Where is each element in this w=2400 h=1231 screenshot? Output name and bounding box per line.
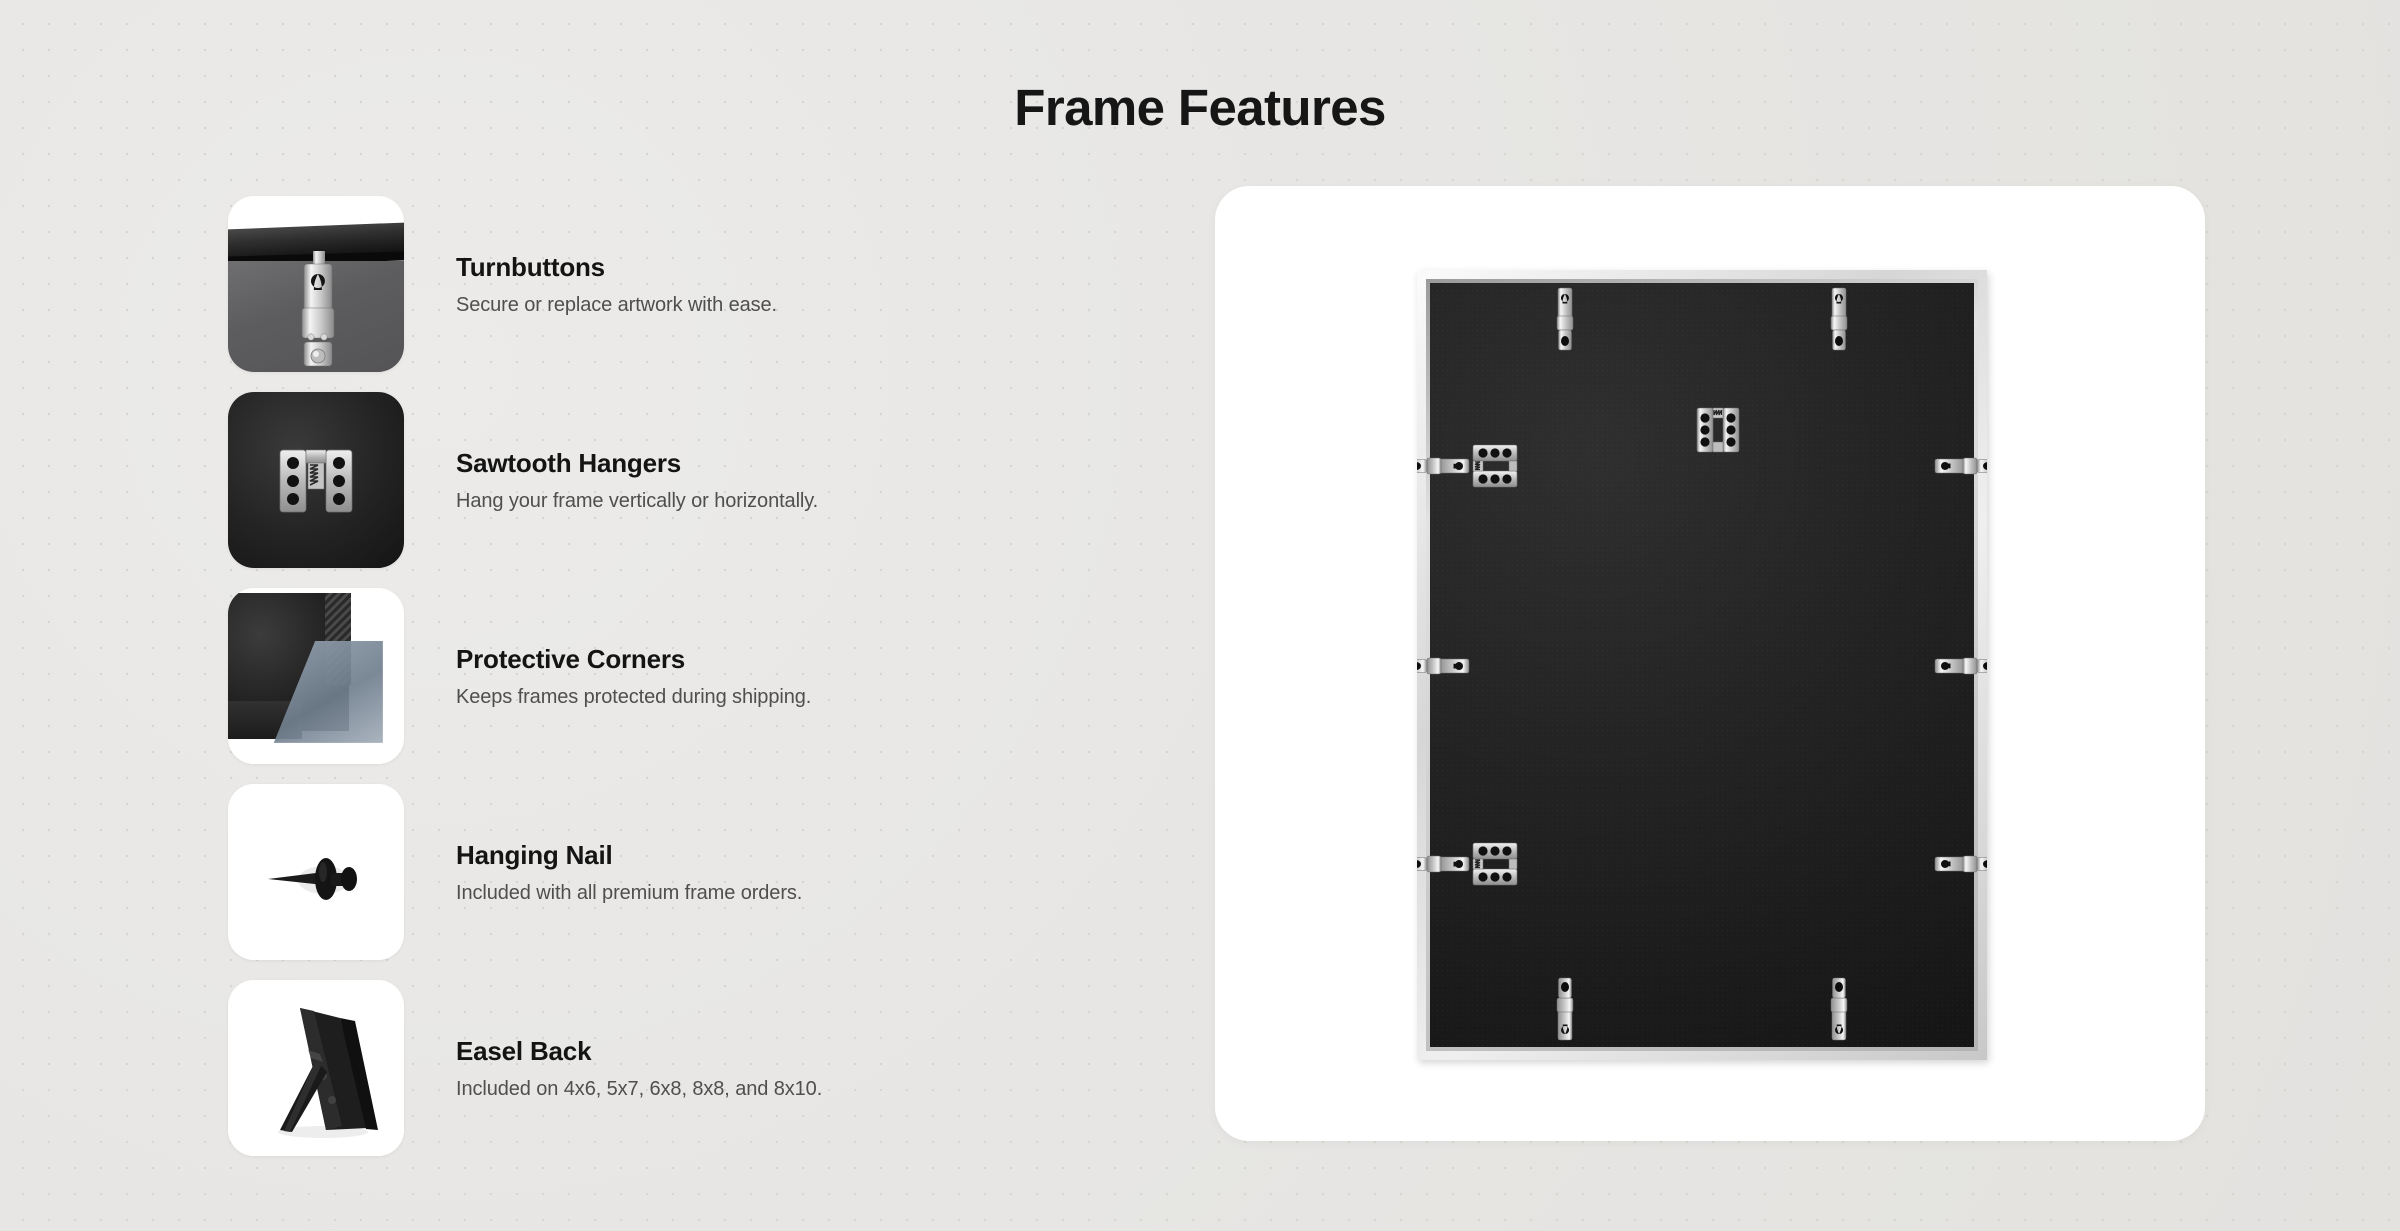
product-image-card [1215, 186, 2205, 1141]
feature-item-hanging-nail[interactable]: Hanging Nail Included with all premium f… [228, 774, 1128, 970]
feature-title: Easel Back [456, 1036, 822, 1067]
turnbutton-thumbnail [228, 196, 404, 372]
sawtooth-hanger-thumbnail [228, 392, 404, 568]
feature-description: Included on 4x6, 5x7, 6x8, 8x8, and 8x10… [456, 1078, 822, 1101]
feature-list: Turnbuttons Secure or replace artwork wi… [228, 186, 1128, 1166]
feature-title: Hanging Nail [456, 840, 802, 871]
feature-item-sawtooth-hangers[interactable]: Sawtooth Hangers Hang your frame vertica… [228, 382, 1128, 578]
feature-text-block: Easel Back Included on 4x6, 5x7, 6x8, 8x… [456, 1036, 822, 1101]
easel-back-thumbnail [228, 980, 404, 1156]
feature-text-block: Hanging Nail Included with all premium f… [456, 840, 802, 905]
feature-item-protective-corners[interactable]: Protective Corners Keeps frames protecte… [228, 578, 1128, 774]
feature-description: Hang your frame vertically or horizontal… [456, 490, 818, 513]
feature-text-block: Protective Corners Keeps frames protecte… [456, 644, 811, 709]
page-title: Frame Features [0, 78, 2400, 137]
feature-title: Protective Corners [456, 644, 811, 675]
frame-back-photo [1417, 270, 1987, 1060]
feature-description: Keeps frames protected during shipping. [456, 686, 811, 709]
hanging-nail-thumbnail [228, 784, 404, 960]
frame-hardware-overlay [1417, 270, 1987, 1060]
feature-description: Secure or replace artwork with ease. [456, 294, 777, 317]
feature-title: Sawtooth Hangers [456, 448, 818, 479]
feature-item-turnbuttons[interactable]: Turnbuttons Secure or replace artwork wi… [228, 186, 1128, 382]
feature-text-block: Turnbuttons Secure or replace artwork wi… [456, 252, 777, 317]
feature-text-block: Sawtooth Hangers Hang your frame vertica… [456, 448, 818, 513]
feature-title: Turnbuttons [456, 252, 777, 283]
feature-item-easel-back[interactable]: Easel Back Included on 4x6, 5x7, 6x8, 8x… [228, 970, 1128, 1166]
page-background: Frame Features [0, 0, 2400, 1231]
feature-description: Included with all premium frame orders. [456, 882, 802, 905]
protective-corner-thumbnail [228, 588, 404, 764]
